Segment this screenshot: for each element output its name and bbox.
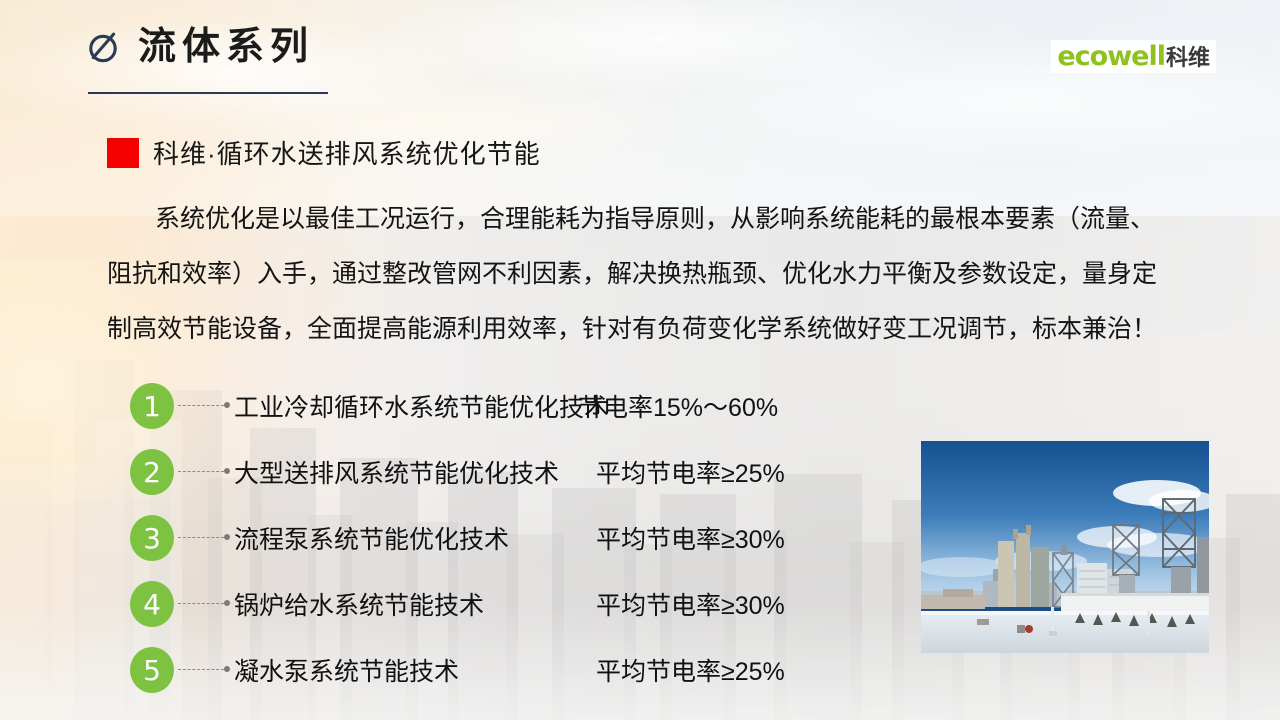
list-item-value: 节电率15%～60% xyxy=(578,388,778,424)
list-item: 3 流程泵系统节能优化技术 平均节电率≥30% xyxy=(130,505,920,571)
list-item-name: 工业冷却循环水系统节能优化技术 xyxy=(234,388,534,424)
page-title: 流体系列 xyxy=(138,28,314,66)
list-item-name: 流程泵系统节能优化技术 xyxy=(234,520,534,556)
section-heading-label: 科维·循环水送排风系统优化节能 xyxy=(153,134,541,171)
dashed-connector-icon xyxy=(178,599,232,609)
presentation-slide: 流体系列 ecowell 科维 科维·循环水送排风系统优化节能 系统优化是以最佳… xyxy=(0,0,1280,720)
slide-header: 流体系列 xyxy=(86,28,314,66)
dashed-connector-icon xyxy=(178,467,232,477)
body-line-1: 系统优化是以最佳工况运行，合理能耗为指导原则，从影响系统能耗的最根本要素（流量、 xyxy=(107,192,1217,247)
brand-logo: ecowell 科维 xyxy=(1051,40,1216,73)
technology-list: 1 工业冷却循环水系统节能优化技术 节电率15%～60% 2 大型送排风系统节能… xyxy=(130,373,920,703)
list-item-name: 大型送排风系统节能优化技术 xyxy=(234,454,534,490)
list-item: 2 大型送排风系统节能优化技术 平均节电率≥25% xyxy=(130,439,920,505)
industrial-plant-photo xyxy=(921,441,1209,653)
diameter-symbol-icon xyxy=(86,29,122,65)
header-underline xyxy=(88,92,328,94)
red-square-bullet-icon xyxy=(107,138,139,168)
body-line-2: 阻抗和效率）入手，通过整改管网不利因素，解决换热瓶颈、优化水力平衡及参数设定，量… xyxy=(107,247,1217,302)
list-item-name: 凝水泵系统节能技术 xyxy=(234,652,534,688)
list-number-badge: 1 xyxy=(130,383,174,429)
logo-text-english: ecowell xyxy=(1057,43,1165,70)
list-item-value: 平均节电率≥25% xyxy=(596,454,785,490)
list-item-value: 平均节电率≥30% xyxy=(596,586,785,622)
list-number-badge: 3 xyxy=(130,515,174,561)
list-item: 4 锅炉给水系统节能技术 平均节电率≥30% xyxy=(130,571,920,637)
dashed-connector-icon xyxy=(178,665,232,675)
list-item-value: 平均节电率≥30% xyxy=(596,520,785,556)
dashed-connector-icon xyxy=(178,401,232,411)
dashed-connector-icon xyxy=(178,533,232,543)
list-number-badge: 4 xyxy=(130,581,174,627)
section-heading: 科维·循环水送排风系统优化节能 xyxy=(107,134,541,171)
list-item: 5 凝水泵系统节能技术 平均节电率≥25% xyxy=(130,637,920,703)
list-item-value: 平均节电率≥25% xyxy=(596,652,785,688)
list-number-badge: 2 xyxy=(130,449,174,495)
body-paragraph: 系统优化是以最佳工况运行，合理能耗为指导原则，从影响系统能耗的最根本要素（流量、… xyxy=(107,192,1217,357)
list-number-badge: 5 xyxy=(130,647,174,693)
body-line-3: 制高效节能设备，全面提高能源利用效率，针对有负荷变化学系统做好变工况调节，标本兼… xyxy=(107,302,1217,357)
list-item: 1 工业冷却循环水系统节能优化技术 节电率15%～60% xyxy=(130,373,920,439)
list-item-name: 锅炉给水系统节能技术 xyxy=(234,586,534,622)
logo-text-chinese: 科维 xyxy=(1166,47,1210,69)
